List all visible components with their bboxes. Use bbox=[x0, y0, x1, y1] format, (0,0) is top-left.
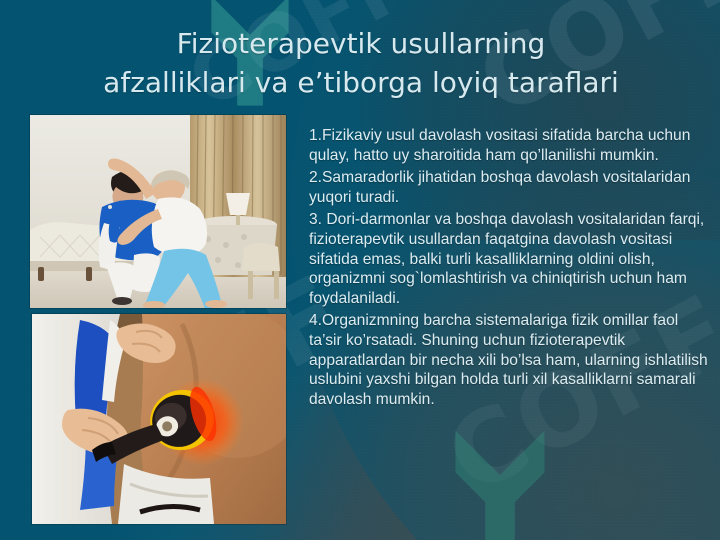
body-paragraph-4: 4.Organizmning barcha sistemalariga fizi… bbox=[309, 311, 709, 409]
body-paragraph-1: 1.Fizikaviy usul davolash vositasi sifat… bbox=[309, 126, 709, 165]
photo-stretching-exercise bbox=[30, 115, 286, 308]
body-paragraph-2: 2.Samaradorlik jihatidan boshqa davolash… bbox=[309, 168, 709, 207]
slide-body-text: 1.Fizikaviy usul davolash vositasi sifat… bbox=[309, 126, 709, 412]
photo-physiotherapy-device-graphic bbox=[32, 314, 286, 524]
slide-title: Fizioterapevtik usullarning afzalliklari… bbox=[14, 24, 708, 102]
photo-stretching-exercise-graphic bbox=[30, 115, 286, 308]
body-paragraph-3: 3. Dori-darmonlar va boshqa davolash vos… bbox=[309, 210, 709, 308]
photo-physiotherapy-device bbox=[32, 314, 286, 524]
presentation-slide: COFF COFF COFF COFF Fizioterapevtik usul… bbox=[0, 0, 720, 540]
